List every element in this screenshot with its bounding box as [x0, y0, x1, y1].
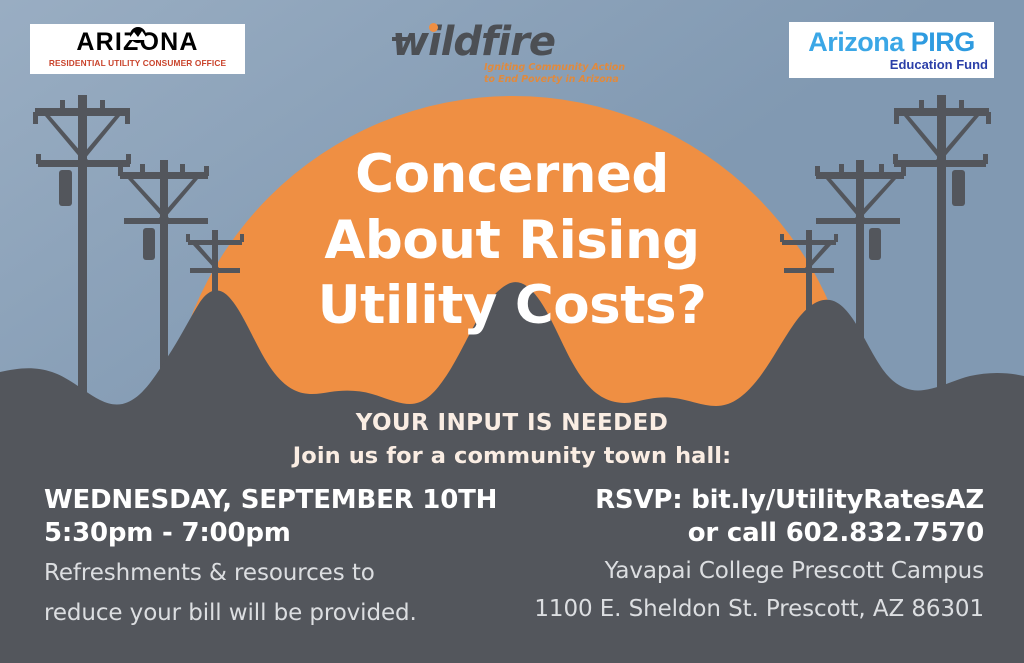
- event-venue: Yavapai College Prescott Campus: [514, 556, 984, 587]
- headline-line-1: Concerned: [0, 142, 1024, 208]
- wildfire-tagline: Igniting Community Action to End Poverty…: [484, 62, 625, 86]
- logo-arizona-rucco: ARIZONA RESIDENTIAL UTILITY CONSUMER OFF…: [30, 24, 245, 74]
- cta-headline: YOUR INPUT IS NEEDED: [0, 409, 1024, 438]
- event-time: 5:30pm - 7:00pm: [44, 517, 514, 550]
- event-flyer: ARIZONA RESIDENTIAL UTILITY CONSUMER OFF…: [0, 0, 1024, 663]
- pirg-word-pirg: PIRG: [911, 27, 975, 57]
- wildfire-tagline-line1: Igniting Community Action: [484, 62, 625, 74]
- event-when-block: WEDNESDAY, SEPTEMBER 10TH 5:30pm - 7:00p…: [44, 484, 514, 628]
- wildfire-dot-mark: [429, 23, 438, 32]
- logo-arizona-pirg: Arizona PIRG Education Fund: [789, 22, 994, 78]
- event-address: 1100 E. Sheldon St. Prescott, AZ 86301: [514, 594, 984, 625]
- call-to-action: YOUR INPUT IS NEEDED Join us for a commu…: [0, 409, 1024, 471]
- logo-row: ARIZONA RESIDENTIAL UTILITY CONSUMER OFF…: [0, 0, 1024, 100]
- rsvp-phone[interactable]: or call 602.832.7570: [514, 517, 984, 550]
- rucco-mountain-icon: [125, 27, 151, 43]
- logo-wildfire: wildfire Igniting Community Action to En…: [392, 22, 642, 84]
- pirg-word-arizona: Arizona: [808, 27, 911, 57]
- wildfire-tagline-line2: to End Poverty in Arizona: [484, 74, 625, 86]
- event-note-line2: reduce your bill will be provided.: [44, 598, 514, 629]
- event-date: WEDNESDAY, SEPTEMBER 10TH: [44, 484, 514, 517]
- pirg-wordmark: Arizona PIRG: [808, 29, 975, 56]
- cta-subheadline: Join us for a community town hall:: [0, 442, 1024, 471]
- pirg-subtitle: Education Fund: [890, 58, 988, 71]
- headline: Concerned About Rising Utility Costs?: [0, 142, 1024, 339]
- event-note-line1: Refreshments & resources to: [44, 558, 514, 589]
- headline-line-2: About Rising: [0, 208, 1024, 274]
- wildfire-bar-mark: [392, 37, 410, 41]
- rucco-subtitle: RESIDENTIAL UTILITY CONSUMER OFFICE: [49, 58, 226, 68]
- event-details: WEDNESDAY, SEPTEMBER 10TH 5:30pm - 7:00p…: [0, 484, 1024, 644]
- rsvp-link[interactable]: RSVP: bit.ly/UtilityRatesAZ: [514, 484, 984, 517]
- headline-line-3: Utility Costs?: [0, 273, 1024, 339]
- event-rsvp-block: RSVP: bit.ly/UtilityRatesAZ or call 602.…: [514, 484, 984, 624]
